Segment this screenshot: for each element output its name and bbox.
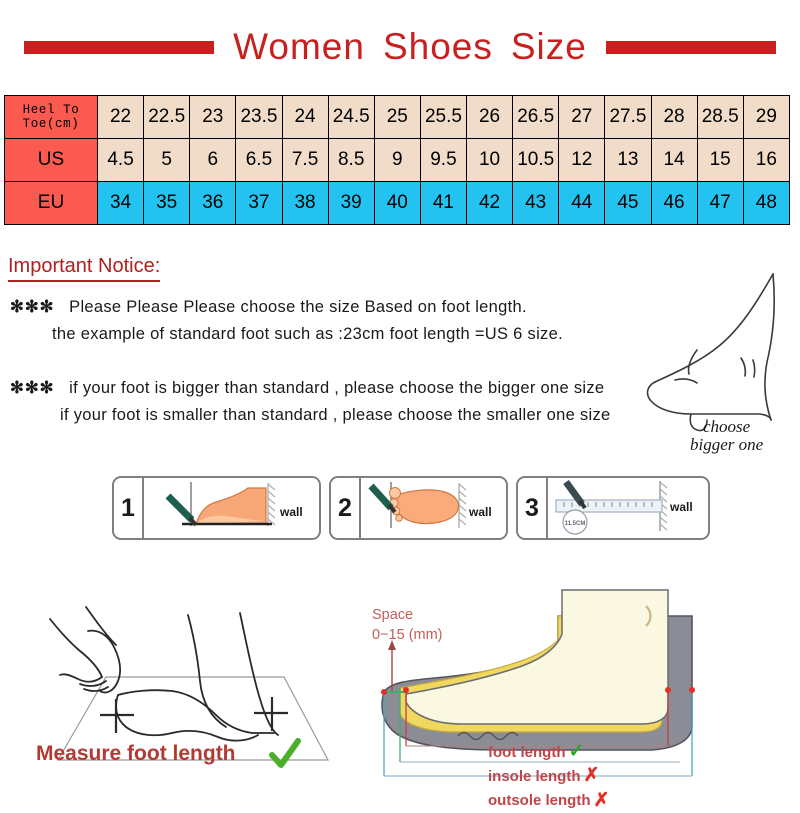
cell-cm-8: 26 bbox=[467, 96, 513, 139]
legend-outsole-length-text: outsole length bbox=[488, 791, 591, 810]
cell-cm-1: 22.5 bbox=[144, 96, 190, 139]
cell-eu-10: 44 bbox=[559, 182, 605, 225]
step-number-1: 1 bbox=[114, 478, 144, 538]
cell-cm-4: 24 bbox=[282, 96, 328, 139]
page-title: WomenShoesSize bbox=[214, 26, 606, 68]
cell-eu-3: 37 bbox=[236, 182, 282, 225]
cell-eu-12: 46 bbox=[651, 182, 697, 225]
cell-eu-8: 42 bbox=[467, 182, 513, 225]
cell-us-4: 7.5 bbox=[282, 139, 328, 182]
row-label-heel-to-toe: Heel To Toe(cm) bbox=[5, 96, 98, 139]
cell-us-13: 15 bbox=[697, 139, 743, 182]
title-word-3: Size bbox=[511, 26, 587, 67]
cell-cm-3: 23.5 bbox=[236, 96, 282, 139]
space-gap-label: Space 0−15 (mm) bbox=[372, 606, 443, 645]
step-2-illustration: wall bbox=[361, 478, 506, 538]
title-word-2: Shoes bbox=[383, 26, 493, 67]
table-row-eu: EU 34 35 36 37 38 39 40 41 42 43 44 45 4… bbox=[5, 182, 790, 225]
cell-eu-0: 34 bbox=[98, 182, 144, 225]
legend-insole-length-text: insole length bbox=[488, 767, 581, 786]
svg-text:wall: wall bbox=[468, 505, 492, 519]
cell-cm-11: 27.5 bbox=[605, 96, 651, 139]
cell-eu-11: 45 bbox=[605, 182, 651, 225]
cross-icon-2: ✗ bbox=[594, 789, 610, 813]
page-title-row: WomenShoesSize bbox=[0, 24, 800, 70]
important-notice-heading: Important Notice: bbox=[8, 255, 160, 282]
notice-line-1-text: Please Please Please choose the size Bas… bbox=[69, 298, 527, 316]
cell-cm-6: 25 bbox=[374, 96, 420, 139]
cell-eu-14: 48 bbox=[743, 182, 789, 225]
asterisk-marker-icon-2: ✻✻✻ bbox=[10, 379, 54, 397]
cell-cm-10: 27 bbox=[559, 96, 605, 139]
measure-foot-length-caption: Measure foot length bbox=[36, 742, 236, 766]
cell-us-5: 8.5 bbox=[328, 139, 374, 182]
legend-foot-length: foot length ✓ bbox=[488, 740, 609, 764]
cell-eu-7: 41 bbox=[420, 182, 466, 225]
choose-bigger-one-caption: choose bigger one bbox=[690, 418, 763, 454]
notice-line-1: ✻✻✻ Please Please Please choose the size… bbox=[10, 297, 527, 317]
cell-cm-14: 29 bbox=[743, 96, 789, 139]
cell-cm-2: 23 bbox=[190, 96, 236, 139]
cell-us-14: 16 bbox=[743, 139, 789, 182]
measurement-steps: 1 wall 2 bbox=[112, 476, 710, 540]
choose-bigger-line-2: bigger one bbox=[690, 436, 763, 454]
svg-text:11.5CM: 11.5CM bbox=[565, 521, 586, 527]
notice-line-2: the example of standard foot such as :23… bbox=[52, 325, 563, 344]
cell-eu-6: 40 bbox=[374, 182, 420, 225]
notice-line-3-text: if your foot is bigger than standard , p… bbox=[69, 379, 604, 397]
svg-text:wall: wall bbox=[279, 505, 303, 519]
cell-us-6: 9 bbox=[374, 139, 420, 182]
legend-insole-length: insole length ✗ bbox=[488, 764, 609, 788]
notice-line-3: ✻✻✻ if your foot is bigger than standard… bbox=[10, 378, 604, 398]
cell-us-10: 12 bbox=[559, 139, 605, 182]
legend-foot-length-text: foot length bbox=[488, 743, 565, 762]
step-1-illustration: wall bbox=[144, 478, 319, 538]
choose-bigger-line-1: choose bbox=[690, 418, 763, 436]
step-panel-1: 1 wall bbox=[112, 476, 321, 540]
cell-us-3: 6.5 bbox=[236, 139, 282, 182]
cell-cm-7: 25.5 bbox=[420, 96, 466, 139]
cell-cm-5: 24.5 bbox=[328, 96, 374, 139]
legend-outsole-length: outsole length ✗ bbox=[488, 789, 609, 813]
cell-us-0: 4.5 bbox=[98, 139, 144, 182]
step-number-2: 2 bbox=[331, 478, 361, 538]
cell-us-7: 9.5 bbox=[420, 139, 466, 182]
cell-us-9: 10.5 bbox=[513, 139, 559, 182]
step-panel-2: 2 wall bbox=[329, 476, 508, 540]
step-panel-3: 3 bbox=[516, 476, 710, 540]
table-row-us: US 4.5 5 6 6.5 7.5 8.5 9 9.5 10 10.5 12 … bbox=[5, 139, 790, 182]
cell-us-8: 10 bbox=[467, 139, 513, 182]
title-word-1: Women bbox=[233, 26, 365, 67]
length-legend: foot length ✓ insole length ✗ outsole le… bbox=[488, 740, 609, 813]
cell-eu-1: 35 bbox=[144, 182, 190, 225]
space-label-line-1: Space bbox=[372, 606, 443, 626]
check-icon: ✓ bbox=[568, 740, 584, 764]
cell-eu-13: 47 bbox=[697, 182, 743, 225]
asterisk-marker-icon: ✻✻✻ bbox=[10, 298, 54, 316]
cell-us-1: 5 bbox=[144, 139, 190, 182]
title-rule-left bbox=[24, 41, 214, 54]
cell-cm-0: 22 bbox=[98, 96, 144, 139]
table-row-heel-to-toe: Heel To Toe(cm) 22 22.5 23 23.5 24 24.5 … bbox=[5, 96, 790, 139]
cell-eu-2: 36 bbox=[190, 182, 236, 225]
space-label-line-2: 0−15 (mm) bbox=[372, 626, 443, 646]
cell-us-2: 6 bbox=[190, 139, 236, 182]
cell-eu-9: 43 bbox=[513, 182, 559, 225]
size-chart-table: Heel To Toe(cm) 22 22.5 23 23.5 24 24.5 … bbox=[4, 95, 790, 225]
row-label-eu: EU bbox=[5, 182, 98, 225]
notice-line-4: if your foot is smaller than standard , … bbox=[60, 406, 610, 425]
cross-icon: ✗ bbox=[584, 764, 600, 788]
cell-cm-13: 28.5 bbox=[697, 96, 743, 139]
cell-us-11: 13 bbox=[605, 139, 651, 182]
step-3-illustration: 11.5CM wall bbox=[548, 478, 708, 538]
svg-text:wall: wall bbox=[669, 500, 693, 514]
row-label-us: US bbox=[5, 139, 98, 182]
title-rule-right bbox=[606, 41, 776, 54]
cell-cm-12: 28 bbox=[651, 96, 697, 139]
step-number-3: 3 bbox=[518, 478, 548, 538]
green-check-icon bbox=[268, 738, 302, 772]
cell-us-12: 14 bbox=[651, 139, 697, 182]
cell-cm-9: 26.5 bbox=[513, 96, 559, 139]
cell-eu-5: 39 bbox=[328, 182, 374, 225]
cell-eu-4: 38 bbox=[282, 182, 328, 225]
